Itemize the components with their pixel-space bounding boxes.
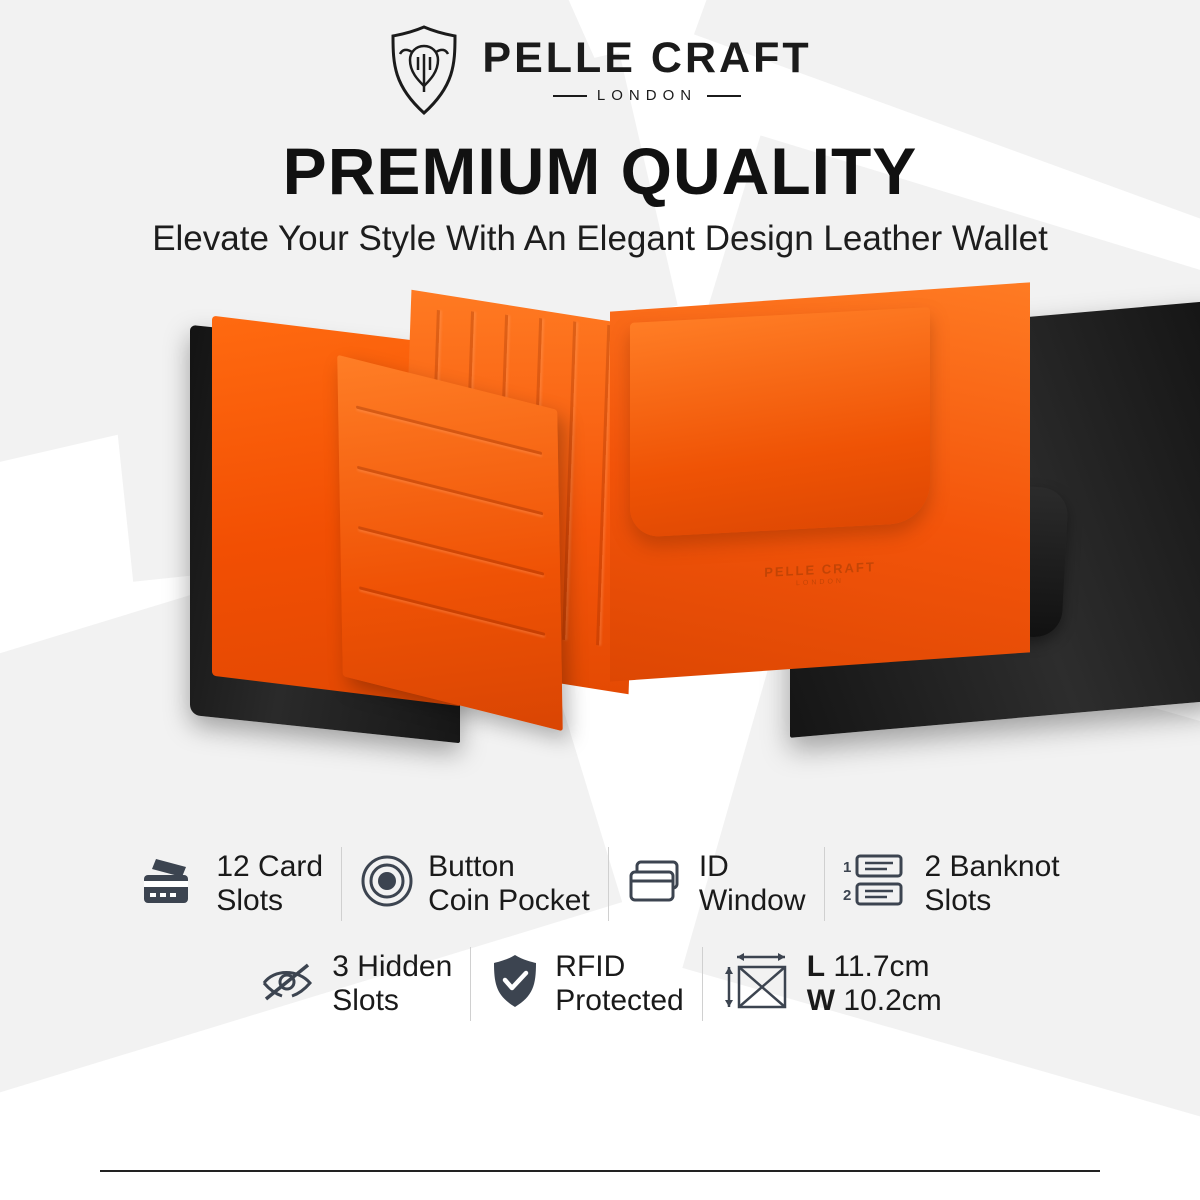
feature-hidden-slots-line2: Slots xyxy=(332,984,399,1017)
feature-row-1: 12 Card Slots Button Coin Pocket xyxy=(70,847,1130,921)
feature-dimensions-value-length: 11.7cm xyxy=(833,950,929,983)
shield-goat-head-icon xyxy=(388,24,460,116)
button-coin-icon xyxy=(360,854,414,913)
feature-hidden-slots-line1: 3 Hidden xyxy=(332,950,452,983)
feature-hidden-slots-text: 3 Hidden Slots xyxy=(332,950,452,1017)
feature-rfid-line2: Protected xyxy=(555,984,683,1017)
product-image: PELLE CRAFT LONDON xyxy=(0,277,1200,837)
feature-banknote-slots-line1: 2 Banknot xyxy=(925,850,1060,883)
eye-off-icon xyxy=(258,957,318,1010)
feature-rfid: RFID Protected xyxy=(471,950,701,1017)
feature-card-slots-line1: 12 Card xyxy=(216,850,323,883)
feature-rfid-line1: RFID xyxy=(555,950,625,983)
coin-pocket xyxy=(630,307,930,538)
feature-dimensions-text: L 11.7cm W 10.2cm xyxy=(807,950,942,1017)
shield-check-icon xyxy=(489,952,541,1015)
brand-rule-right xyxy=(707,95,741,97)
feature-coin-pocket: Button Coin Pocket xyxy=(342,850,608,917)
bottom-divider xyxy=(100,1170,1100,1172)
brand-name: PELLE CRAFT xyxy=(482,37,811,80)
feature-coin-pocket-line2: Coin Pocket xyxy=(428,884,590,917)
feature-hidden-slots: 3 Hidden Slots xyxy=(240,950,470,1017)
card-slot-flap xyxy=(337,354,563,731)
feature-dimensions-label-width: W xyxy=(807,984,835,1017)
feature-coin-pocket-text: Button Coin Pocket xyxy=(428,850,590,917)
brand-sub: LONDON xyxy=(597,88,697,103)
feature-id-window: ID Window xyxy=(609,850,824,917)
feature-rfid-text: RFID Protected xyxy=(555,950,683,1017)
feature-id-window-line1: ID xyxy=(699,850,729,883)
feature-row-2: 3 Hidden Slots RFID Protected xyxy=(70,947,1130,1021)
feature-banknote-slots-line2: Slots xyxy=(925,884,992,917)
feature-card-slots-text: 12 Card Slots xyxy=(216,850,323,917)
cards-icon xyxy=(140,853,202,914)
feature-card-slots: 12 Card Slots xyxy=(122,850,341,917)
feature-banknote-slots: 1 2 2 Banknot Slots xyxy=(825,850,1078,917)
svg-text:1: 1 xyxy=(843,859,851,876)
feature-banknote-slots-text: 2 Banknot Slots xyxy=(925,850,1060,917)
brand-logo: PELLE CRAFT LONDON xyxy=(0,0,1200,110)
feature-card-slots-line2: Slots xyxy=(216,884,283,917)
brand-rule-left xyxy=(553,95,587,97)
feature-id-window-text: ID Window xyxy=(699,850,806,917)
dimensions-icon xyxy=(721,949,793,1018)
feature-id-window-line2: Window xyxy=(699,884,806,917)
wallet-emboss: PELLE CRAFT LONDON xyxy=(755,558,885,623)
feature-coin-pocket-line1: Button xyxy=(428,850,515,883)
svg-text:2: 2 xyxy=(843,887,851,904)
feature-list: 12 Card Slots Button Coin Pocket xyxy=(0,847,1200,1021)
page-title: PREMIUM QUALITY xyxy=(0,138,1200,204)
feature-dimensions-label-length: L xyxy=(807,950,825,983)
banknote-slots-icon: 1 2 xyxy=(843,852,911,915)
page-subtitle: Elevate Your Style With An Elegant Desig… xyxy=(0,220,1200,259)
product-banner: PELLE CRAFT LONDON PREMIUM QUALITY Eleva… xyxy=(0,0,1200,1200)
feature-dimensions-value-width: 10.2cm xyxy=(843,984,941,1017)
wallet-illustration: PELLE CRAFT LONDON xyxy=(190,287,1070,827)
id-window-icon xyxy=(627,854,685,913)
feature-dimensions: L 11.7cm W 10.2cm xyxy=(703,949,960,1018)
